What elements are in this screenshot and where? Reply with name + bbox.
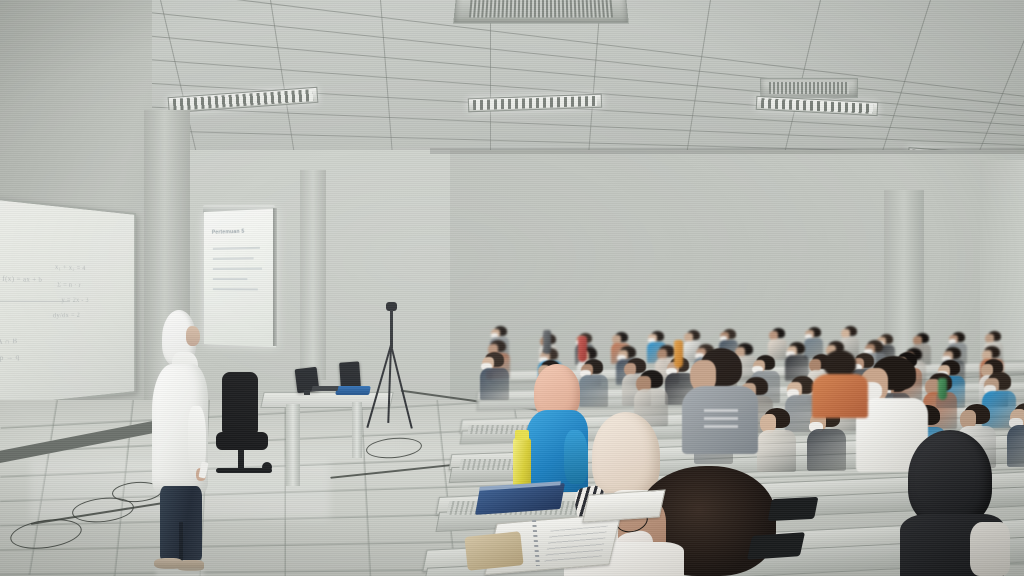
orange-bottle xyxy=(674,340,683,368)
wall-ceiling-shadow xyxy=(430,148,1024,154)
student-black-hijab xyxy=(900,430,1010,576)
pillar-right-far xyxy=(980,160,1024,360)
red-bottle xyxy=(578,336,587,362)
student-orange-top-hair xyxy=(824,350,856,376)
lecturer-desk-leg-right xyxy=(352,402,362,458)
student-orange-top xyxy=(812,350,872,416)
office-chair-caster xyxy=(262,462,272,472)
student-figure xyxy=(480,352,510,400)
ceiling-ac-vent xyxy=(453,0,629,23)
notebook-lines xyxy=(544,526,608,563)
student-black-hijab-headscarf xyxy=(908,430,992,526)
student-grey-tshirt-graphic xyxy=(704,404,738,428)
student-black-hijab-sleeve xyxy=(970,522,1010,576)
camera-tripod-column xyxy=(390,310,393,348)
student-grey-tshirt xyxy=(682,348,762,454)
whiteboard-note-6: p → q xyxy=(0,353,19,363)
whiteboard-note-0: f(x) = ax + b xyxy=(2,275,42,285)
whiteboard-note-4: dy/dx = 2 xyxy=(53,312,80,321)
smartphone xyxy=(747,532,805,560)
keyboard xyxy=(311,386,338,391)
lecturer-monitor-right xyxy=(339,361,361,388)
student-torso xyxy=(807,429,846,471)
student-foreground-glasses xyxy=(612,466,792,576)
student-torso xyxy=(480,368,509,399)
lecturer-face xyxy=(186,326,200,346)
ceiling-ac-vent-right xyxy=(760,78,858,98)
paper-bag xyxy=(464,531,523,571)
whiteboard-smudge xyxy=(0,301,70,302)
smartphone-2 xyxy=(768,497,819,521)
student-orange-top-shirt xyxy=(812,374,868,418)
lecturer-monitor-left-stand xyxy=(304,390,310,395)
dark-bottle xyxy=(543,330,551,354)
slide-title: Pertemuan 5 xyxy=(212,229,245,236)
lecture-hall-photograph: f(x) = ax + b x₁ + x₂ = 4 Σ = n · r y = … xyxy=(0,0,1024,576)
whiteboard: f(x) = ax + b x₁ + x₂ = 4 Σ = n · r y = … xyxy=(0,196,136,410)
student-figure xyxy=(757,408,797,472)
pillar-mid xyxy=(300,170,326,380)
green-bottle xyxy=(938,378,947,400)
whiteboard-note-2: Σ = n · r xyxy=(57,281,81,290)
lecturer-desk-leg-left xyxy=(286,404,300,486)
lecturer xyxy=(148,310,228,576)
blue-equipment-box xyxy=(335,386,371,395)
open-notebook-2 xyxy=(582,489,665,522)
whiteboard-note-5: A ∩ B xyxy=(0,337,18,347)
lecturer-leg-gap xyxy=(179,522,183,562)
whiteboard-note-1: x₁ + x₂ = 4 xyxy=(55,263,86,273)
projector-screen-edge xyxy=(273,208,277,346)
yellow-water-bottle-cap xyxy=(515,430,529,440)
